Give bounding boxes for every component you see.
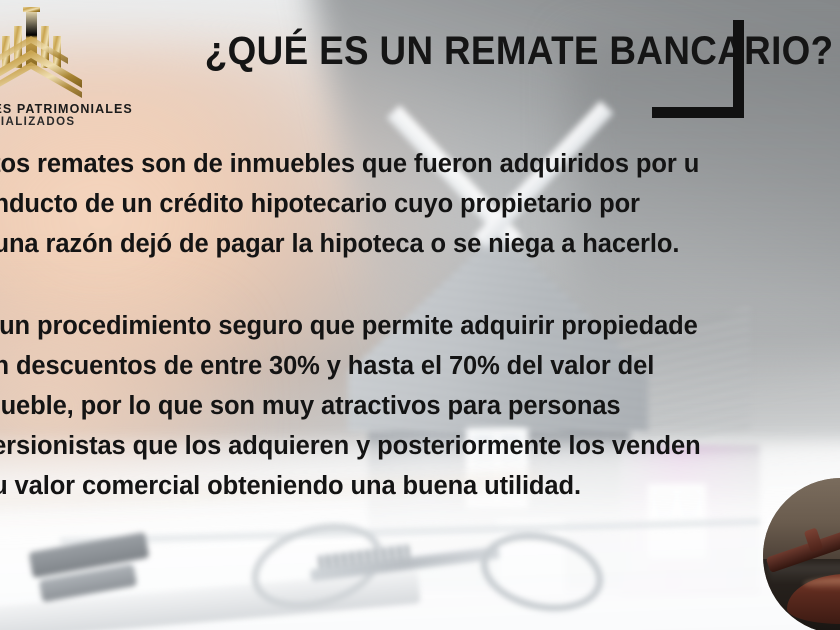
paragraph-2-line-4: versionistas que los adquieren y posteri… bbox=[0, 426, 840, 466]
paragraph-2-line-2: on descuentos de entre 30% y hasta el 70… bbox=[0, 346, 840, 386]
paragraph-1-line-2: onducto de un crédito hipotecario cuyo p… bbox=[0, 184, 840, 224]
paragraph-1-line-1: stos remates son de inmuebles que fueron… bbox=[0, 144, 840, 184]
bracket-horizontal-bar bbox=[652, 107, 744, 118]
paragraph-2: s un procedimiento seguro que permite ad… bbox=[0, 306, 840, 506]
key-ring-2 bbox=[473, 522, 610, 622]
page-title: ¿QUÉ ES UN REMATE BANCARIO? bbox=[205, 28, 637, 74]
paragraph-2-line-3: mueble, por lo que son muy atractivos pa… bbox=[0, 386, 840, 426]
paper-edge bbox=[60, 518, 760, 545]
poster-canvas: TORES PATRIMONIALES SPECIALIZADOS ¿QUÉ E… bbox=[0, 0, 840, 630]
logo-name-line-2: SPECIALIZADOS bbox=[0, 116, 134, 128]
bracket-vertical-bar bbox=[733, 20, 744, 118]
body-copy: stos remates son de inmuebles que fueron… bbox=[0, 144, 840, 506]
brand-logo: TORES PATRIMONIALES SPECIALIZADOS bbox=[0, 6, 134, 130]
paragraph-2-line-5: su valor comercial obteniendo una buena … bbox=[0, 466, 840, 506]
corner-bracket-decoration bbox=[652, 20, 744, 118]
gold-building-emblem-icon bbox=[0, 6, 98, 98]
paragraph-1-line-3: guna razón dejó de pagar la hipoteca o s… bbox=[0, 224, 840, 264]
paragraph-spacer bbox=[0, 264, 840, 306]
keys-and-pen-image bbox=[60, 516, 700, 626]
logo-name-line-1: TORES PATRIMONIALES bbox=[0, 102, 134, 116]
gavel-photo-circle bbox=[763, 478, 840, 630]
paragraph-1: stos remates son de inmuebles que fueron… bbox=[0, 144, 840, 264]
paragraph-2-line-1: s un procedimiento seguro que permite ad… bbox=[0, 306, 840, 346]
